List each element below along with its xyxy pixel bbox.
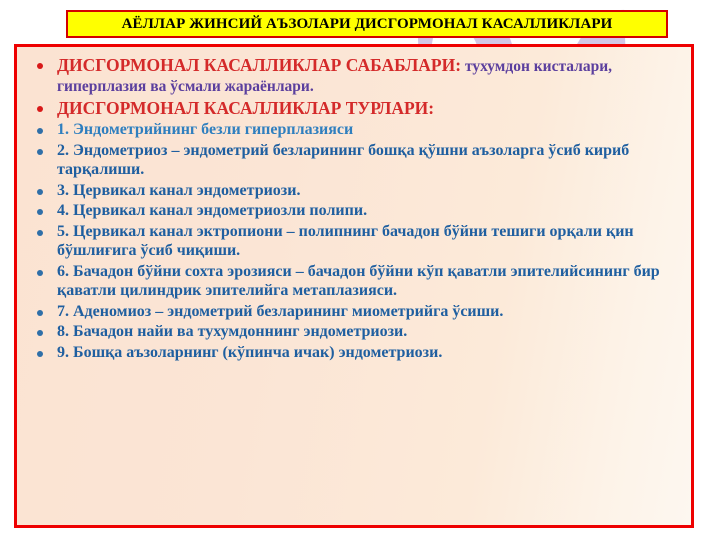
list-item: 1. Эндометрийнинг безли гиперплазияси (25, 120, 681, 140)
bullet-dot-icon (37, 310, 43, 316)
list-item: ДИСГОРМОНАЛ КАСАЛЛИКЛАР ТУРЛАРИ: (25, 98, 681, 120)
bullet-text: 4. Цервикал канал эндометриозли полипи. (57, 201, 681, 221)
list-item: 2. Эндометриоз – эндометрий безларининг … (25, 141, 681, 180)
bullet-heading: ДИСГОРМОНАЛ КАСАЛЛИКЛАР САБАБЛАРИ (57, 55, 455, 75)
list-item: 3. Цервикал канал эндометриози. (25, 181, 681, 201)
bullet-dot-icon (37, 330, 43, 336)
content-body: ДИСГОРМОНАЛ КАСАЛЛИКЛАР САБАБЛАРИ: тухум… (17, 47, 691, 525)
list-item: ДИСГОРМОНАЛ КАСАЛЛИКЛАР САБАБЛАРИ: тухум… (25, 55, 681, 97)
presentation-slide: 24 Hujjat АЁЛЛАР ЖИНСИЙ АЪЗОЛАРИ ДИСГОРМ… (0, 0, 720, 540)
bullet-text: 7. Аденомиоз – эндометрий безларининг ми… (57, 302, 681, 322)
bullet-heading-suffix: : (428, 98, 434, 118)
bullet-list: ДИСГОРМОНАЛ КАСАЛЛИКЛАР САБАБЛАРИ: тухум… (25, 55, 681, 363)
bullet-dot-icon (37, 351, 43, 357)
bullet-text: 9. Бошқа аъзоларнинг (кўпинча ичак) эндо… (57, 343, 681, 363)
list-item: 6. Бачадон бўйни сохта эрозияси – бачадо… (25, 262, 681, 301)
list-item: 8. Бачадон найи ва тухумдоннинг эндометр… (25, 322, 681, 342)
bullet-dot-icon (37, 270, 43, 276)
bullet-dot-icon (37, 63, 43, 69)
bullet-dot-icon (37, 106, 43, 112)
list-item: 7. Аденомиоз – эндометрий безларининг ми… (25, 302, 681, 322)
bullet-text: 2. Эндометриоз – эндометрий безларининг … (57, 141, 681, 180)
list-item: 9. Бошқа аъзоларнинг (кўпинча ичак) эндо… (25, 343, 681, 363)
bullet-text: ДИСГОРМОНАЛ КАСАЛЛИКЛАР ТУРЛАРИ: (57, 98, 681, 120)
bullet-text: 3. Цервикал канал эндометриози. (57, 181, 681, 201)
bullet-text: ДИСГОРМОНАЛ КАСАЛЛИКЛАР САБАБЛАРИ: тухум… (57, 55, 681, 97)
bullet-dot-icon (37, 230, 43, 236)
list-item: 4. Цервикал канал эндометриозли полипи. (25, 201, 681, 221)
bullet-dot-icon (37, 149, 43, 155)
bullet-text: 6. Бачадон бўйни сохта эрозияси – бачадо… (57, 262, 681, 301)
bullet-text: 5. Цервикал канал эктропиони – полипнинг… (57, 222, 681, 261)
bullet-text: 8. Бачадон найи ва тухумдоннинг эндометр… (57, 322, 681, 342)
list-item: 5. Цервикал канал эктропиони – полипнинг… (25, 222, 681, 261)
bullet-dot-icon (37, 209, 43, 215)
bullet-text: 1. Эндометрийнинг безли гиперплазияси (57, 120, 681, 140)
content-panel: ДИСГОРМОНАЛ КАСАЛЛИКЛАР САБАБЛАРИ: тухум… (14, 44, 694, 528)
bullet-heading: ДИСГОРМОНАЛ КАСАЛЛИКЛАР ТУРЛАРИ (57, 98, 428, 118)
slide-title-box: АЁЛЛАР ЖИНСИЙ АЪЗОЛАРИ ДИСГОРМОНАЛ КАСАЛ… (66, 10, 668, 38)
bullet-dot-icon (37, 128, 43, 134)
bullet-dot-icon (37, 189, 43, 195)
slide-title: АЁЛЛАР ЖИНСИЙ АЪЗОЛАРИ ДИСГОРМОНАЛ КАСАЛ… (122, 16, 613, 33)
